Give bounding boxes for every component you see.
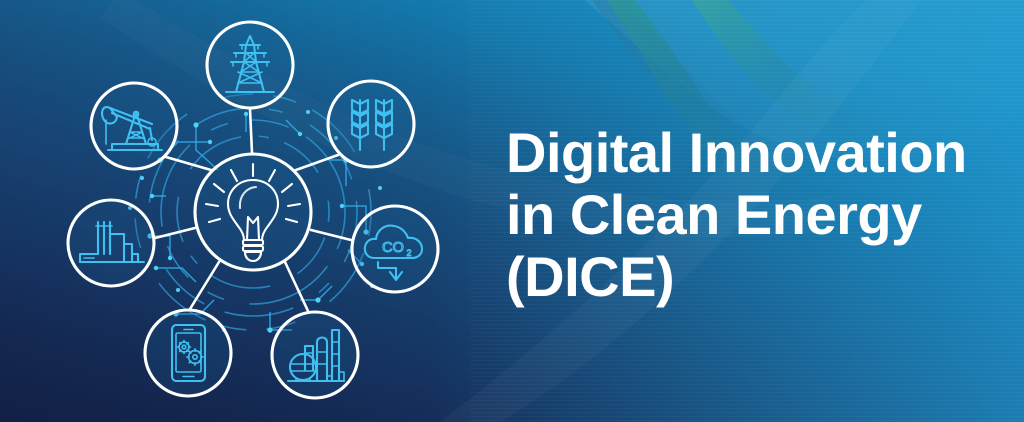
node-industry[interactable]	[68, 200, 154, 286]
co2-subscript: 2	[406, 248, 411, 258]
node-oil-gas[interactable]	[91, 83, 177, 169]
co2-label: CO	[382, 240, 404, 256]
spoke-to-emissions	[311, 230, 351, 240]
spoke-to-digital-tech	[190, 262, 219, 309]
node-bioenergy[interactable]	[328, 81, 414, 167]
spoke-to-refining	[285, 262, 308, 311]
dice-banner: .ring { fill: none; stroke: #ffffff; str…	[0, 0, 1024, 422]
hub-node-digital-innovation[interactable]	[195, 154, 311, 270]
spoke-to-power-grid	[250, 109, 252, 153]
node-power-grid[interactable]	[207, 22, 293, 108]
spoke-to-bioenergy	[296, 155, 338, 170]
node-refining[interactable]	[272, 312, 358, 398]
node-digital-tech[interactable]	[145, 310, 231, 396]
hub-and-spoke-energy-diagram: .ring { fill: none; stroke: #ffffff; str…	[0, 0, 1024, 422]
node-emissions[interactable]: CO 2	[352, 206, 438, 292]
spoke-to-industry	[155, 228, 195, 238]
